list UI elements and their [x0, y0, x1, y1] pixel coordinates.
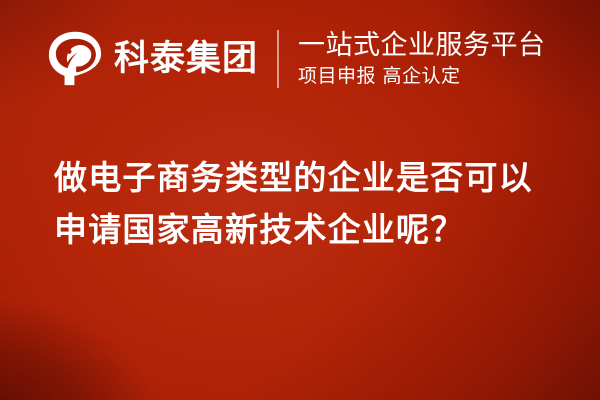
brand-name: 科泰集团 [114, 42, 258, 77]
headline-line-2: 申请国家高新技术企业呢？ [54, 204, 559, 256]
tagline-block: 一站式企业服务平台 项目申报 高企认定 [298, 30, 546, 88]
headline-block: 做电子商务类型的企业是否可以 申请国家高新技术企业呢？ [54, 152, 559, 256]
header-divider [277, 30, 279, 88]
tagline-secondary: 项目申报 高企认定 [298, 66, 546, 88]
ketai-circular-logo-icon [46, 30, 104, 88]
headline-line-1: 做电子商务类型的企业是否可以 [54, 152, 559, 204]
promo-banner: 科泰集团 一站式企业服务平台 项目申报 高企认定 做电子商务类型的企业是否可以 … [0, 0, 600, 400]
banner-header: 科泰集团 一站式企业服务平台 项目申报 高企认定 [0, 0, 600, 118]
tagline-primary: 一站式企业服务平台 [298, 30, 546, 62]
